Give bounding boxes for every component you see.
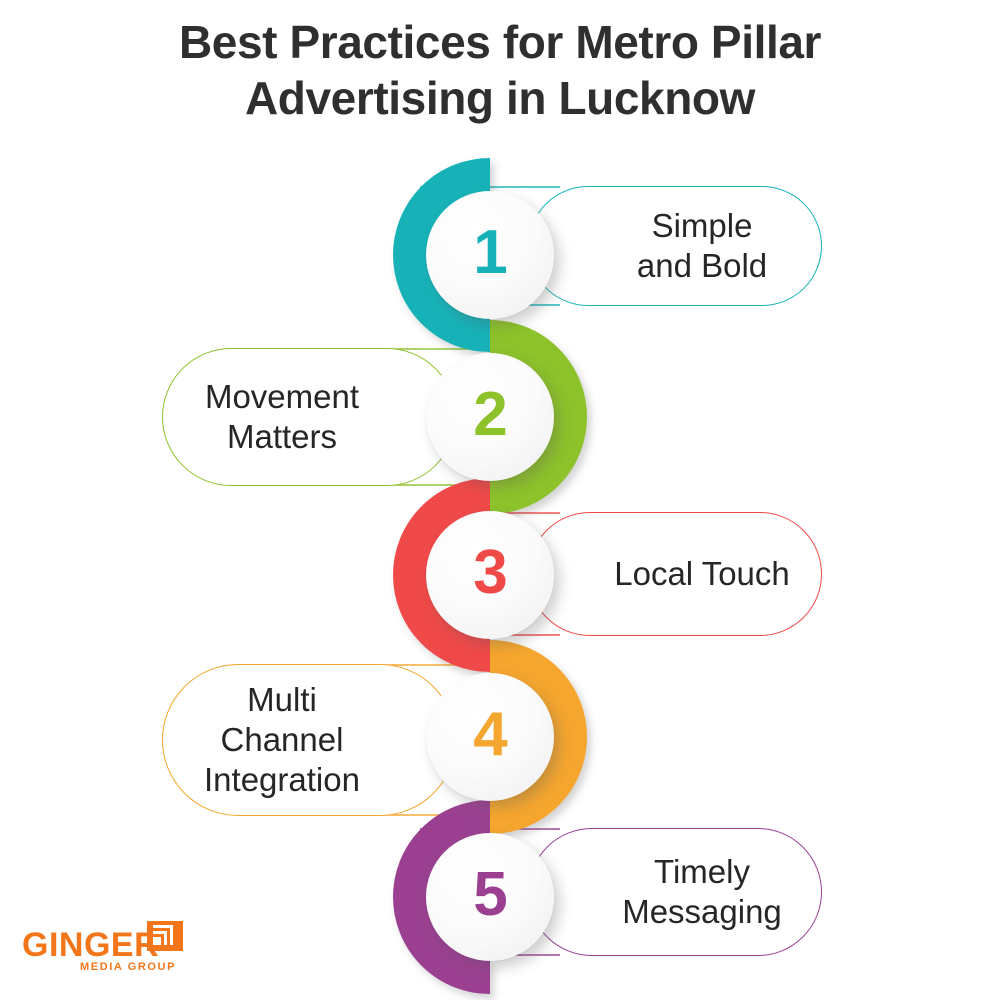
step-circle-1[interactable]: 1 [426,191,554,319]
step-pill-3[interactable]: Local Touch [528,512,822,636]
page-title-line-2: Advertising in Lucknow [60,70,940,126]
step-label-4: Multi Channel Integration [188,680,376,801]
step-label-5: Timely Messaging [606,852,798,933]
step-label-1: Simple and Bold [621,206,783,287]
step-circle-4[interactable]: 4 [426,673,554,801]
page-title-line-1: Best Practices for Metro Pillar [60,14,940,70]
step-circle-2[interactable]: 2 [426,353,554,481]
step-label-3: Local Touch [598,554,806,594]
brand-logo-name: GINGER [22,928,159,962]
nested-squares-icon [146,920,184,952]
step-number-1: 1 [473,222,506,284]
step-pill-5[interactable]: Timely Messaging [528,828,822,956]
step-number-4: 4 [473,704,506,766]
brand-logo-tagline: MEDIA GROUP [80,962,176,973]
step-number-5: 5 [473,864,506,926]
infographic-canvas: Best Practices for Metro Pillar Advertis… [0,0,1000,1000]
step-pill-1[interactable]: Simple and Bold [528,186,822,306]
step-pill-4[interactable]: Multi Channel Integration [162,664,456,816]
step-number-2: 2 [473,384,506,446]
step-label-2: Movement Matters [189,377,375,458]
brand-logo[interactable]: GINGER MEDIA GROUP [22,920,212,982]
page-title: Best Practices for Metro Pillar Advertis… [60,14,940,126]
step-number-3: 3 [473,542,506,604]
step-pill-2[interactable]: Movement Matters [162,348,456,486]
step-circle-5[interactable]: 5 [426,833,554,961]
step-circle-3[interactable]: 3 [426,511,554,639]
